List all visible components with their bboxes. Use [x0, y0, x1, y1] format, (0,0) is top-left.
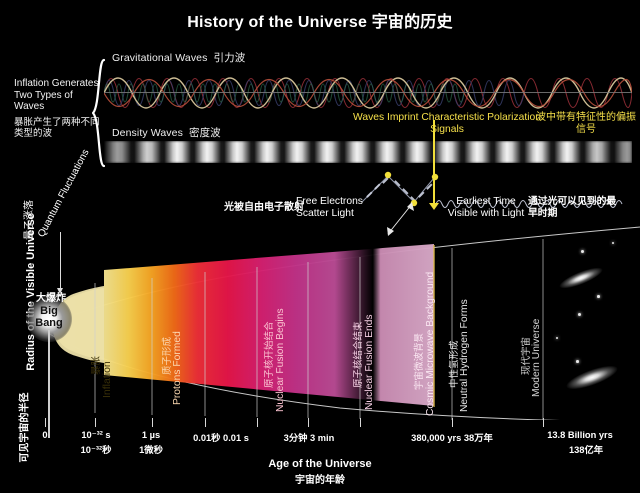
universe-history-infographic: History of the Universe 宇宙的历史 Gravitatio… [0, 0, 640, 493]
cmb-marker-line [433, 120, 435, 205]
era-label-modern-cn: 现代宇宙 [518, 337, 532, 375]
x-tick-label-7: 380,000 yrs 38万年 [378, 430, 526, 444]
page-title: History of the Universe 宇宙的历史 [0, 8, 640, 32]
x-tick [308, 418, 309, 427]
era-label-fusion-ends-cn: 原子核结合结束 [350, 321, 364, 388]
x-tick [452, 418, 453, 427]
star-icon [576, 360, 579, 363]
big-bang-label-cn: 大爆炸 [28, 289, 74, 304]
quantum-fluctuations-arrowhead-icon [57, 288, 63, 294]
polarization-label-en: Waves Imprint Characteristic Polarizatio… [352, 112, 542, 136]
density-waves-graphic [104, 141, 632, 163]
universe-expansion-chart [0, 215, 640, 420]
star-icon [612, 242, 614, 244]
x-tick-label-2: 1 µs [128, 430, 174, 440]
x-tick-label-5: 3分钟 3 min [272, 430, 346, 444]
x-axis-title-cn: 宇宙的年龄 [230, 471, 410, 486]
big-bang-label-en: Big Bang [30, 305, 68, 329]
x-tick [95, 418, 96, 427]
era-label-cmb-cn: 宇宙微波背景 [411, 333, 425, 390]
density-waves-en: Density Waves [112, 127, 183, 139]
x-tick-label-0: 0 [36, 430, 54, 440]
free-electrons-label-cn: 光被自由电子散射 [224, 198, 304, 213]
star-icon [578, 313, 581, 316]
era-label-modern-en: Modern Universe [531, 319, 542, 397]
era-label-neutral-hydrogen-cn: 中性氢形成 [446, 340, 460, 388]
era-label-inflation-cn: 暴胀 [88, 356, 102, 375]
x-tick [360, 418, 361, 427]
era-label-inflation-en: Inflation [101, 361, 113, 398]
quantum-fluctuations-label-cn: 量子涨落 [24, 200, 35, 240]
x-tick-label-2-cn: 1微秒 [128, 442, 174, 456]
density-waves-cn: 密度波 [189, 127, 221, 139]
x-tick-label-1: 10⁻³² s [70, 430, 122, 441]
x-tick-label-1-cn: 10⁻³²秒 [70, 442, 122, 456]
gravitational-waves-axis [104, 92, 632, 93]
x-tick [45, 418, 46, 427]
x-tick-label-9-cn: 138亿年 [540, 442, 632, 456]
era-label-fusion-begins-en: Nuclear Fusion Begins [275, 308, 286, 412]
x-tick [205, 418, 206, 427]
era-label-cmb-en: Cosmic Microwave Background [425, 272, 436, 416]
inflation-caption: Inflation Generates Two Types of Waves 暴… [14, 78, 100, 139]
star-icon [581, 250, 584, 253]
density-waves-label: Density Waves 密度波 [112, 125, 221, 140]
page-title-en: History of the Universe [187, 14, 367, 31]
page-title-cn: 宇宙的历史 [372, 14, 453, 31]
star-icon [597, 295, 600, 298]
x-axis-title-en: Age of the Universe [230, 458, 410, 470]
curly-brace-icon [92, 58, 106, 168]
x-tick-label-9: 13.8 Billion yrs [528, 430, 632, 440]
era-label-fusion-ends-en: Nuclear Fusion Ends [364, 314, 375, 410]
era-label-protons-cn: 质子形成 [159, 337, 173, 375]
x-tick [543, 418, 544, 427]
era-label-neutral-hydrogen-en: Neutral Hydrogen Forms [459, 299, 470, 412]
cmb-marker-arrow-icon [429, 203, 439, 210]
inflation-caption-cn: 暴胀产生了两种不同类型的波 [14, 117, 100, 139]
era-label-protons-en: Protons Formed [172, 331, 183, 405]
x-tick-label-3: 0.01秒 0.01 s [176, 430, 266, 444]
x-tick [152, 418, 153, 427]
quantum-fluctuations-pointer [60, 232, 61, 290]
x-tick [257, 418, 258, 427]
era-label-fusion-begins-cn: 原子核开始结合 [261, 321, 275, 388]
polarization-label-cn: 波中带有特征性的偏振信号 [536, 112, 636, 136]
star-icon [556, 337, 558, 339]
inflation-caption-en: Inflation Generates Two Types of Waves [14, 78, 99, 112]
